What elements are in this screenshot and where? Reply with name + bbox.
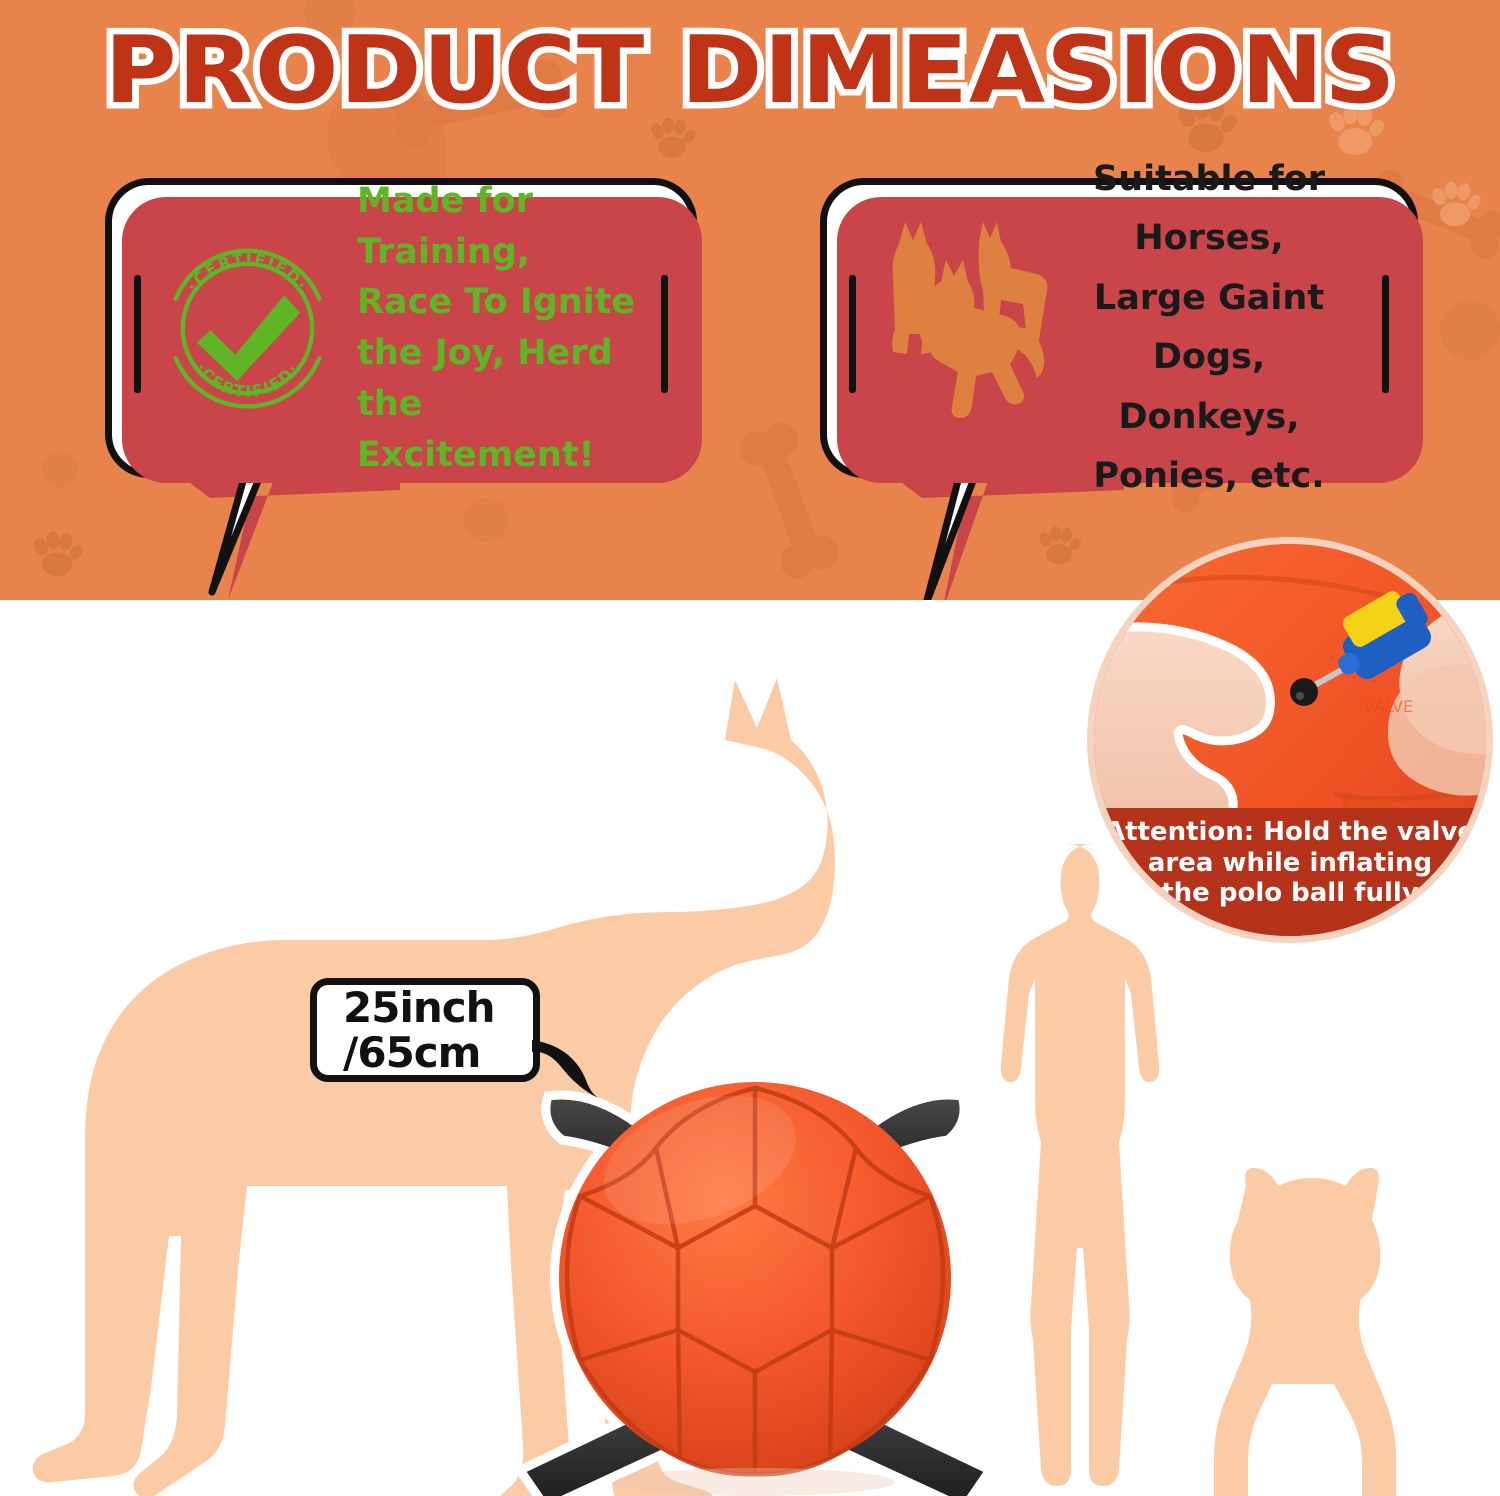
certified-check-icon: ·CERTIFIED· ·CERTIFIED· <box>160 241 335 416</box>
page-title-wrap: PRODUCT DIMEASIONS <box>0 16 1500 124</box>
training-line-1: Made for Training, <box>357 176 690 278</box>
infographic-canvas: PRODUCT DIMEASIONS <box>0 0 1500 1496</box>
inflation-instruction-photo: VALVE Attention: Hold the valve area whi… <box>1087 537 1493 943</box>
size-line-1: 25inch <box>343 985 533 1030</box>
suitable-line-2: Large Gaint Dogs, <box>1049 269 1369 388</box>
training-bubble: ·CERTIFIED· ·CERTIFIED· Made for Trainin… <box>105 178 697 478</box>
attention-line-3: the polo ball fully <box>1094 878 1486 909</box>
human-silhouette <box>1000 838 1190 1496</box>
suitable-bubble: Suitable for Horses, Large Gaint Dogs, D… <box>820 178 1418 478</box>
page-title: PRODUCT DIMEASIONS <box>104 16 1396 124</box>
training-line-2: Race To Ignite <box>357 277 690 328</box>
size-line-2: /65cm <box>343 1030 533 1075</box>
bubble-left-tick <box>134 275 141 393</box>
training-line-3: the Joy, Herd the <box>357 328 690 430</box>
suitable-line-1: Suitable for Horses, <box>1049 150 1369 269</box>
bubble-right-tick <box>661 275 668 393</box>
dog-silhouette <box>1188 1166 1398 1496</box>
header-band: PRODUCT DIMEASIONS <box>0 0 1500 600</box>
attention-line-2: area while inflating <box>1094 848 1486 879</box>
attention-caption: Attention: Hold the valve area while inf… <box>1094 808 1486 936</box>
suitable-bubble-text: Suitable for Horses, Large Gaint Dogs, D… <box>1049 150 1411 507</box>
suitable-line-3: Donkeys, Ponies, etc. <box>1049 388 1369 507</box>
svg-text:·CERTIFIED·: ·CERTIFIED· <box>183 249 312 294</box>
training-bubble-text: Made for Training, Race To Ignite the Jo… <box>357 176 690 481</box>
training-line-4: Excitement! <box>357 430 690 481</box>
attention-line-1: Attention: Hold the valve <box>1094 817 1486 848</box>
bubble-right-tick <box>1382 275 1389 393</box>
size-callout-tail <box>528 1032 618 1112</box>
size-callout: 25inch /65cm <box>310 978 540 1082</box>
bubble-left-tick <box>849 275 856 393</box>
horses-donkey-silhouette-icon <box>869 208 1049 448</box>
svg-text:VALVE: VALVE <box>1364 697 1413 716</box>
